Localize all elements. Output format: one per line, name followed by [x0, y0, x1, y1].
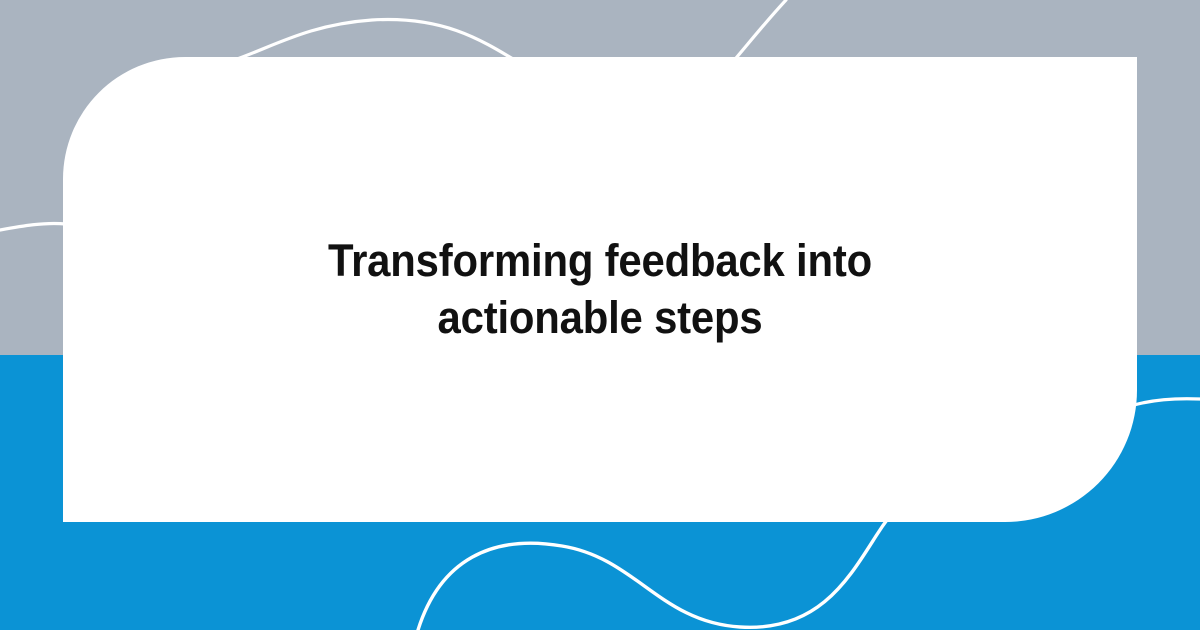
- card-content-area: Transforming feedback into actionable st…: [63, 57, 1137, 522]
- social-card-canvas: Transforming feedback into actionable st…: [0, 0, 1200, 630]
- page-title: Transforming feedback into actionable st…: [284, 233, 916, 346]
- content-card: Transforming feedback into actionable st…: [63, 57, 1137, 522]
